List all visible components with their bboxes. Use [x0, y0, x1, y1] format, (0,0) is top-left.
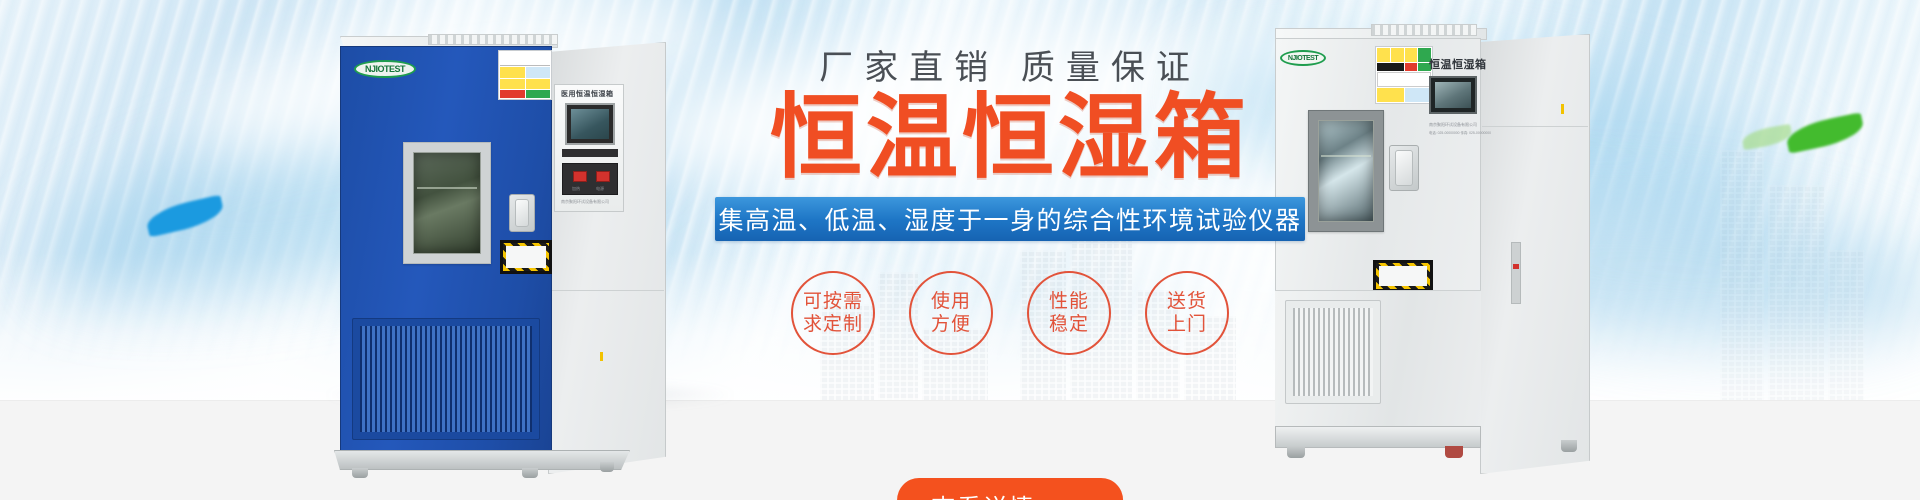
leveling-foot: [1445, 446, 1463, 458]
chamber-door-handle[interactable]: [1389, 145, 1419, 191]
badge-line-1: 性能: [1049, 290, 1089, 313]
machine-top-louvers: [428, 34, 558, 45]
product-image-left-chamber: NJIOTEST 医用恒温恒湿箱 加: [300, 22, 670, 500]
control-panel-company: 南京聚阳环试设备有限公司: [561, 199, 609, 205]
machine-side-panel: [1480, 34, 1590, 474]
leveling-foot: [352, 468, 368, 478]
control-panel-title: 医用恒温恒湿箱: [561, 89, 614, 99]
leveling-foot: [1561, 440, 1577, 452]
chamber-viewing-window: [403, 142, 491, 264]
machine-side-seam: [550, 290, 664, 291]
brand-logo-text: NJIOTEST: [365, 64, 405, 74]
led-label-power: 电源: [596, 186, 604, 192]
chamber-door-handle[interactable]: [509, 194, 535, 232]
led-label-heat: 加热: [572, 186, 580, 192]
feature-badge-easy-use[interactable]: 使用 方便: [909, 271, 993, 355]
control-panel-button-row: 加热 电源: [562, 163, 618, 195]
feature-badge-list: 可按需 求定制 使用 方便 性能 稳定 送货 上门: [680, 271, 1340, 355]
control-panel-display[interactable]: [565, 103, 615, 145]
brand-logo-left: NJIOTEST: [354, 60, 416, 78]
banner-subtitle-bar: 集高温、低温、湿度于一身的综合性环境试验仪器: [715, 197, 1305, 241]
control-panel-display[interactable]: [1429, 76, 1477, 114]
window-glass: [413, 152, 481, 254]
control-panel-company: 南京聚阳环试设备有限公司: [1429, 122, 1477, 128]
control-panel-strip: [562, 149, 618, 157]
leveling-foot: [522, 468, 538, 478]
banner-copy-block: 厂家直销 质量保证 恒温恒湿箱 集高温、低温、湿度于一身的综合性环境试验仪器 可…: [680, 50, 1340, 355]
condenser-grille-left: [352, 318, 540, 440]
machine-top-louvers: [1371, 24, 1477, 36]
machine-side-seam: [1482, 126, 1588, 127]
control-panel-right: 恒温恒湿箱 南京聚阳环试设备有限公司 电话: 025-00000000 传真: …: [1425, 44, 1481, 194]
control-panel-left: 医用恒温恒湿箱 加热 电源 南京聚阳环试设备有限公司: [554, 84, 624, 212]
badge-line-1: 送货: [1167, 290, 1207, 313]
badge-line-2: 稳定: [1049, 313, 1089, 336]
machine-base-plinth: [1275, 426, 1481, 448]
safety-warning-sticker: [498, 50, 552, 100]
machine-base-plinth: [334, 450, 630, 470]
machine-side-vent-dot: [1561, 104, 1564, 114]
status-led-heat: [573, 171, 587, 182]
machine-side-indicator: [1513, 264, 1519, 269]
machine-side-latch: [1511, 242, 1521, 304]
badge-line-2: 方便: [931, 313, 971, 336]
banner-headline: 恒温恒湿箱: [680, 91, 1340, 185]
feature-badge-delivery[interactable]: 送货 上门: [1145, 271, 1229, 355]
leveling-foot: [600, 462, 614, 472]
banner-subtitle-text: 集高温、低温、湿度于一身的综合性环境试验仪器: [718, 201, 1301, 237]
feature-badge-stable[interactable]: 性能 稳定: [1027, 271, 1111, 355]
product-hero-banner: NJIOTEST 医用恒温恒湿箱 加: [0, 0, 1920, 500]
status-led-power: [596, 171, 610, 182]
feature-badge-custom[interactable]: 可按需 求定制: [791, 271, 875, 355]
banner-tagline: 厂家直销 质量保证: [680, 50, 1340, 87]
badge-line-2: 上门: [1167, 313, 1207, 336]
hazard-warning-label: [1373, 260, 1433, 292]
badge-line-2: 求定制: [803, 313, 863, 336]
view-details-button[interactable]: 查看详情 >>: [897, 478, 1123, 500]
badge-line-1: 使用: [931, 290, 971, 313]
badge-line-1: 可按需: [803, 290, 863, 313]
hazard-warning-label: [500, 240, 552, 274]
leveling-foot: [1287, 446, 1305, 458]
control-panel-title: 恒温恒湿箱: [1429, 56, 1487, 72]
control-panel-contact: 电话: 025-00000000 传真: 025-00000000: [1429, 130, 1491, 135]
machine-side-vent-dot: [600, 352, 603, 361]
